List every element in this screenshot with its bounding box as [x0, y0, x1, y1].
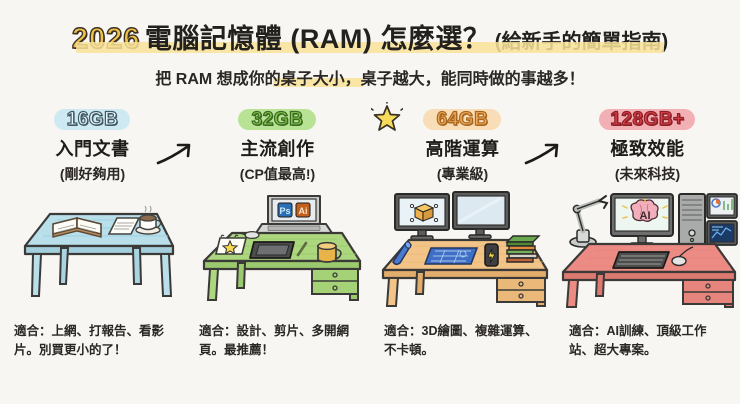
caption-32gb: 適合：設計、剪片、多開網頁。最推薦！	[185, 322, 370, 404]
desk-drawers-icon	[683, 280, 733, 304]
tier-note: (未來科技)	[615, 164, 680, 184]
tier-captions: 適合：上網、打報告、看影片。別買更小的了！ 適合：設計、剪片、多開網頁。最推薦！…	[0, 322, 740, 404]
monitor-icon: AI	[611, 194, 673, 247]
desk-drawers-icon	[312, 269, 358, 294]
caption-64gb: 適合：3D繪圖、複雜運算、不卡頓。	[370, 322, 555, 404]
tier-columns: 16GB 入門文書 (剛好夠用)	[0, 108, 740, 338]
caption-lead: 適合：	[199, 324, 237, 338]
tier-badge-32gb: 32GB	[252, 108, 304, 132]
tier-badge-16gb: 16GB	[67, 108, 119, 132]
subtitle-part-a: 把 RAM 想成你的桌子大小，	[155, 71, 360, 88]
flow-arrow-1	[155, 138, 197, 173]
flow-arrow-2	[523, 138, 565, 173]
page-title: 2026 電腦記憶體 (RAM) 怎麼選？ (給新手的簡單指南)	[72, 17, 668, 56]
desk-illustration-64gb	[373, 188, 553, 313]
desk-illustration-16gb	[5, 188, 180, 308]
badge-label: 64GB	[437, 109, 489, 131]
caption-lead: 適合：	[569, 324, 607, 338]
tier-column-16gb: 16GB 入門文書 (剛好夠用)	[0, 108, 185, 338]
tier-column-128gb: 128GB+ 極致效能 (未來科技)	[555, 108, 740, 338]
caption-lead: 適合：	[384, 324, 422, 338]
infographic-root: 2026 電腦記憶體 (RAM) 怎麼選？ (給新手的簡單指南) 把 RAM 想…	[0, 0, 740, 404]
title-main: 電腦記憶體 (RAM) 怎麼選？	[145, 24, 490, 54]
tier-column-32gb: 32GB 主流創作 (CP值最高!) Ps Ai	[185, 108, 370, 338]
robot-arm-icon	[570, 196, 607, 247]
svg-text:Ai: Ai	[299, 206, 308, 216]
tier-badge-64gb: 64GB	[437, 108, 489, 132]
subtitle: 把 RAM 想成你的桌子大小，桌子越大，能同時做的事越多！	[155, 65, 584, 89]
svg-text:Ps: Ps	[279, 206, 290, 216]
tier-note: (剛好夠用)	[60, 164, 125, 184]
subtitle-part-b: ，能同時做的事越多！	[425, 71, 585, 88]
keyboard-icon	[613, 252, 669, 268]
tier-name: 主流創作	[241, 135, 315, 161]
desk-drawers-icon	[497, 278, 545, 302]
desk-illustration-128gb: AI	[555, 188, 740, 313]
tier-note: (專業級)	[437, 164, 488, 184]
notepad-star-icon	[216, 235, 246, 254]
caption-lead: 適合：	[14, 324, 52, 338]
monitor-icon	[707, 221, 737, 245]
tier-name: 入門文書	[56, 135, 130, 161]
blueprint-icon	[425, 248, 477, 264]
tier-badge-128gb: 128GB+	[610, 108, 684, 132]
tier-name: 高階運算	[426, 135, 500, 161]
badge-label: 16GB	[67, 109, 119, 131]
caption-16gb: 適合：上網、打報告、看影片。別買更小的了！	[0, 322, 185, 404]
badge-label: 32GB	[252, 109, 304, 131]
header: 2026 電腦記憶體 (RAM) 怎麼選？ (給新手的簡單指南) 把 RAM 想…	[0, 0, 740, 89]
energy-drink-icon	[485, 244, 498, 266]
book-stack-icon	[507, 236, 539, 262]
monitor-icon	[395, 194, 449, 240]
monitor-icon	[453, 192, 509, 239]
caption-128gb: 適合：AI訓練、頂級工作站、超大專案。	[555, 322, 740, 404]
tier-name: 極致效能	[611, 135, 685, 161]
server-tower-icon	[679, 194, 705, 246]
coffee-cup-icon	[136, 206, 161, 234]
subtitle-emphasis: 桌子越大	[361, 71, 425, 88]
tier-note: (CP值最高!)	[240, 164, 315, 184]
desk-illustration-32gb: Ps Ai	[190, 188, 365, 308]
desk-legs-icon	[32, 248, 171, 296]
laptop-icon: Ps Ai	[256, 196, 332, 233]
svg-text:AI: AI	[640, 210, 651, 222]
monitor-icon	[707, 194, 737, 218]
badge-label: 128GB+	[610, 109, 684, 131]
drawing-tablet-icon	[250, 242, 294, 258]
